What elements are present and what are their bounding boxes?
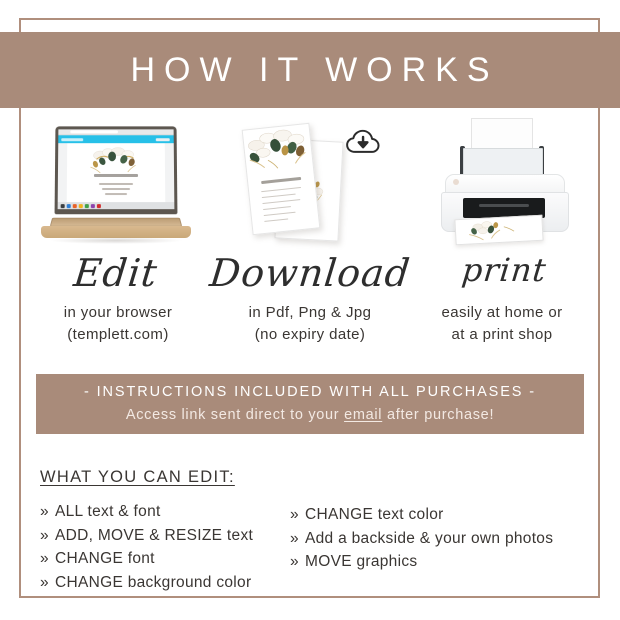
- list-item: »CHANGE background color: [40, 571, 290, 595]
- instructions-banner: - INSTRUCTIONS INCLUDED WITH ALL PURCHAS…: [36, 374, 584, 434]
- caption-print-line2: at a print shop: [406, 324, 598, 346]
- list-item: »CHANGE text color: [290, 503, 585, 527]
- caption-edit-line2: (templett.com): [22, 324, 214, 346]
- invitation-text-line: [99, 183, 133, 185]
- step-script-label-print: print: [460, 254, 548, 286]
- cloud-download-icon: [345, 128, 383, 158]
- caption-print: easily at home or at a print shop: [406, 302, 598, 346]
- page-title: HOW IT WORKS: [121, 53, 498, 87]
- taskbar-icon: [91, 204, 95, 208]
- edit-list-left: »ALL text & font »ADD, MOVE & RESIZE tex…: [40, 500, 290, 594]
- card-front-floral-graphic: [243, 124, 314, 187]
- printer-power-button: [453, 179, 459, 185]
- list-item-label: CHANGE background color: [55, 571, 251, 595]
- instructions-email-link: email: [344, 407, 382, 423]
- card-text-line: [262, 194, 296, 199]
- browser-toolbar: [58, 135, 173, 143]
- step-edit: Edit: [22, 116, 210, 292]
- list-item: »MOVE graphics: [290, 550, 585, 574]
- printer-slot-grill: [479, 204, 529, 207]
- list-item: »Add a backside & your own photos: [290, 527, 585, 551]
- edit-capabilities-columns: »ALL text & font »ADD, MOVE & RESIZE tex…: [40, 500, 585, 594]
- step-download: Download: [210, 116, 410, 292]
- caption-edit-line1: in your browser: [22, 302, 214, 324]
- card-text-line: [264, 212, 296, 217]
- edit-list-right: »CHANGE text color »Add a backside & you…: [290, 500, 585, 594]
- invitation-text-line: [105, 193, 127, 195]
- edit-section-heading: WHAT YOU CAN EDIT:: [40, 468, 235, 487]
- list-item: »ADD, MOVE & RESIZE text: [40, 524, 290, 548]
- caption-print-line1: easily at home or: [406, 302, 598, 324]
- step-script-label-download: Download: [208, 254, 412, 292]
- bullet-glyph-icon: »: [290, 527, 305, 551]
- how-it-works-graphic: HOW IT WORKS: [0, 0, 620, 620]
- bullet-glyph-icon: »: [40, 524, 55, 548]
- browser-url-field: [70, 130, 118, 133]
- toolbar-menu-icon: [61, 138, 83, 141]
- bullet-glyph-icon: »: [40, 500, 55, 524]
- taskbar-icon: [61, 204, 65, 208]
- caption-download-line2: (no expiry date): [214, 324, 406, 346]
- instructions-subline-after: after purchase!: [382, 407, 494, 423]
- invitation-couple-names: [94, 174, 138, 177]
- printer-illustration: [427, 116, 582, 246]
- taskbar-icon: [97, 204, 101, 208]
- step-captions-row: in your browser (templett.com) in Pdf, P…: [22, 302, 598, 346]
- toolbar-action-button: [156, 138, 170, 141]
- list-item-label: CHANGE text color: [305, 503, 444, 527]
- desktop-taskbar: [58, 202, 175, 209]
- list-item-label: Add a backside & your own photos: [305, 527, 553, 551]
- bullet-glyph-icon: »: [290, 550, 305, 574]
- printed-floral-page: [454, 215, 543, 246]
- invitation-text-line: [102, 188, 130, 190]
- header-banner: HOW IT WORKS: [0, 32, 620, 108]
- step-script-label-edit: Edit: [72, 254, 159, 292]
- instructions-headline: - INSTRUCTIONS INCLUDED WITH ALL PURCHAS…: [84, 384, 536, 401]
- bullet-glyph-icon: »: [290, 503, 305, 527]
- card-text-line: [263, 206, 291, 210]
- caption-download: in Pdf, Png & Jpg (no expiry date): [214, 302, 406, 346]
- list-item: »CHANGE font: [40, 547, 290, 571]
- instructions-subline-before: Access link sent direct to your: [126, 407, 344, 423]
- invitation-card-front: [242, 123, 321, 236]
- laptop-screen: [58, 129, 175, 209]
- list-item-label: CHANGE font: [55, 547, 155, 571]
- browser-page-canvas: [67, 143, 166, 203]
- card-text-line: [262, 199, 300, 204]
- list-item-label: ADD, MOVE & RESIZE text: [55, 524, 253, 548]
- list-item-label: ALL text & font: [55, 500, 161, 524]
- taskbar-icon: [67, 204, 71, 208]
- taskbar-icon: [73, 204, 77, 208]
- list-item-label: MOVE graphics: [305, 550, 417, 574]
- card-text-line: [261, 187, 301, 192]
- laptop-illustration: [41, 116, 191, 246]
- bullet-glyph-icon: »: [40, 547, 55, 571]
- invitation-cards-illustration: [235, 116, 385, 246]
- printed-floral-graphic: [455, 216, 542, 244]
- laptop-shadow: [49, 237, 183, 244]
- taskbar-icon: [85, 204, 89, 208]
- instructions-subline: Access link sent direct to your email af…: [126, 407, 494, 424]
- taskbar-icon: [79, 204, 83, 208]
- caption-edit: in your browser (templett.com): [22, 302, 214, 346]
- bullet-glyph-icon: »: [40, 571, 55, 595]
- list-item: »ALL text & font: [40, 500, 290, 524]
- card-text-line: [264, 218, 288, 222]
- laptop-lid: [54, 126, 177, 214]
- step-print: print: [410, 116, 598, 286]
- caption-download-line1: in Pdf, Png & Jpg: [214, 302, 406, 324]
